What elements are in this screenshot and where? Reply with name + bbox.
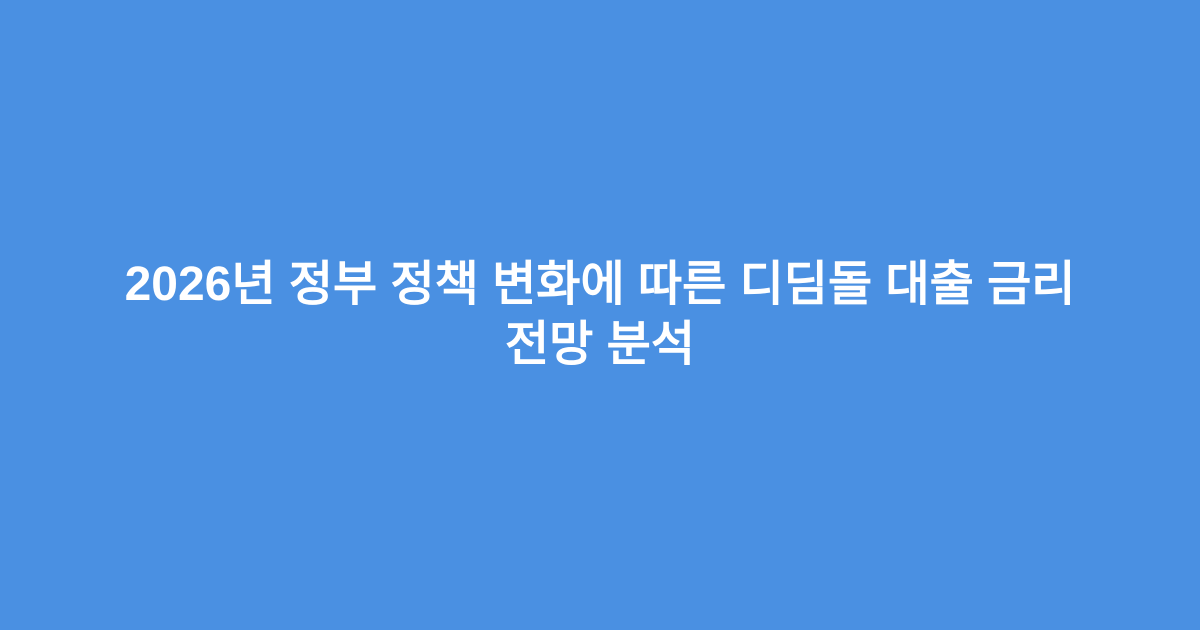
title-block: 2026년 정부 정책 변화에 따른 디딤돌 대출 금리 전망 분석 [90, 255, 1110, 375]
page-title: 2026년 정부 정책 변화에 따른 디딤돌 대출 금리 전망 분석 [90, 255, 1110, 375]
title-card: 2026년 정부 정책 변화에 따른 디딤돌 대출 금리 전망 분석 [0, 0, 1200, 630]
